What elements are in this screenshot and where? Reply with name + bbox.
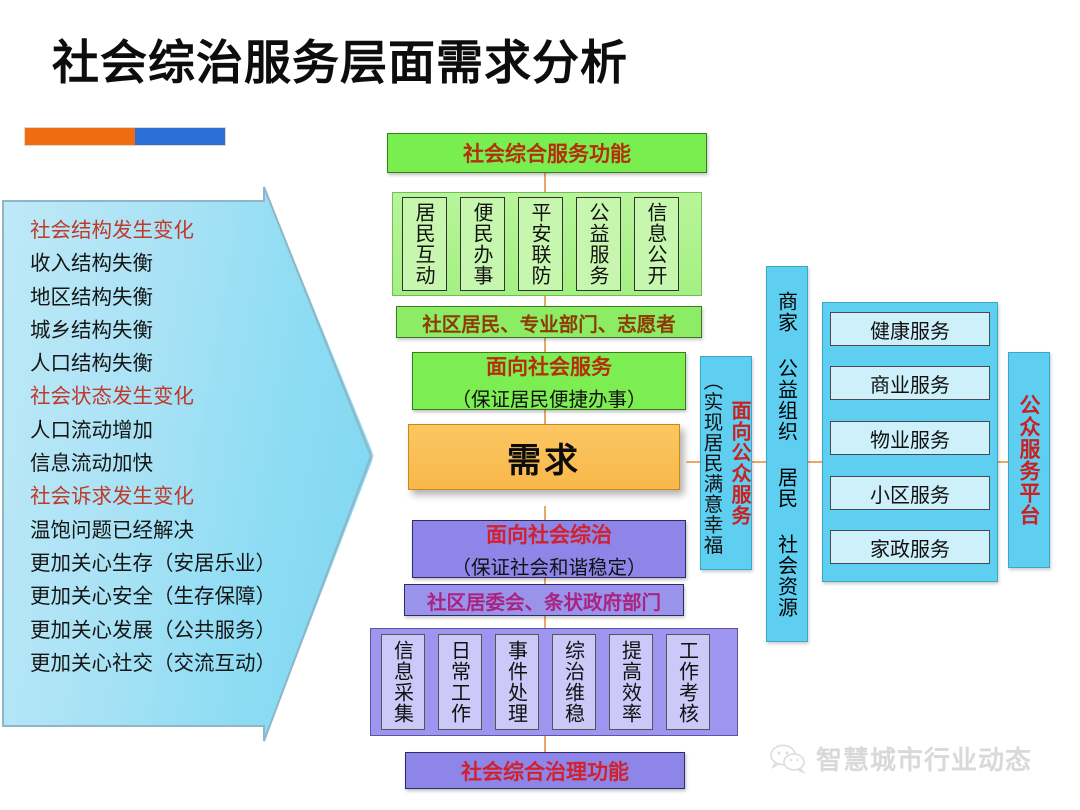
service-box-2[interactable]: 物业服务 [830,421,990,455]
service-box-0[interactable]: 健康服务 [830,312,990,346]
governance-cell-3[interactable]: 综治维稳 [552,634,596,730]
connector [544,172,546,194]
service-cell-2[interactable]: 平安联防 [518,197,563,291]
service-cell-0[interactable]: 居民互动 [402,197,447,291]
platform-label: 公众服务平台 [1014,394,1044,526]
accent-bar-blue [135,128,225,145]
social-service-orientation-block[interactable]: 面向社会服务 （保证居民便捷办事） [412,352,686,410]
slide-canvas: 社会综治服务层面需求分析 社会结构发生变化 收入结构失衡 地区结构失衡 城乡结构… [0,0,1080,810]
block-line-2: （保证社会和谐稳定） [451,551,646,580]
watermark: 智慧城市行业动态 [770,740,1032,777]
social-service-function-header[interactable]: 社会综合服务功能 [387,133,707,173]
public-service-black-text: （实现居民满意幸福 [697,371,726,556]
service-box-3[interactable]: 小区服务 [830,476,990,510]
list-item: 更加关心生存（安居乐业） [30,547,298,580]
list-item: 城乡结构失衡 [30,314,298,347]
governance-cell-2[interactable]: 事件处理 [495,634,539,730]
list-item: 更加关心安全（生存保障） [30,580,298,613]
resources-column[interactable]: 商家 公益组织 居民 社会资源 [766,266,808,642]
governance-cell-1[interactable]: 日常工作 [438,634,482,730]
governance-actors-bar[interactable]: 社区居委会、条状政府部门 [404,584,684,616]
page-title: 社会综治服务层面需求分析 [52,38,628,90]
block-line-2: （保证居民便捷办事） [451,383,646,412]
list-item: 温饱问题已经解决 [30,514,298,547]
public-service-orientation-column[interactable]: 面向公众服务 （实现居民满意幸福 [700,356,752,570]
list-item: 人口结构失衡 [30,347,298,380]
wechat-icon [770,744,806,774]
connector [544,410,546,424]
service-cell-4[interactable]: 信息公开 [634,197,679,291]
public-service-platform-column[interactable]: 公众服务平台 [1008,352,1050,568]
list-item: 信息流动加快 [30,447,298,480]
accent-bar [25,128,225,145]
public-service-red-text: 面向公众服务 [726,400,755,526]
resources-column-label: 商家 公益组织 居民 社会资源 [773,291,802,618]
governance-cell-0[interactable]: 信息采集 [381,634,425,730]
social-governance-orientation-block[interactable]: 面向社会综治 （保证社会和谐稳定） [412,520,686,578]
list-item: 收入结构失衡 [30,247,298,280]
governance-cell-5[interactable]: 工作考核 [666,634,710,730]
connector [544,735,546,753]
block-line-1: 面向社会综治 [486,519,612,549]
drivers-list: 社会结构发生变化 收入结构失衡 地区结构失衡 城乡结构失衡 人口结构失衡 社会状… [30,214,298,680]
service-box-4[interactable]: 家政服务 [830,530,990,564]
service-actors-bar[interactable]: 社区居民、专业部门、志愿者 [396,306,702,338]
need-box[interactable]: 需求 [408,424,680,490]
list-item: 地区结构失衡 [30,281,298,314]
service-cell-3[interactable]: 公益服务 [576,197,621,291]
list-item: 更加关心发展（公共服务） [30,614,298,647]
list-item: 社会状态发生变化 [30,380,298,413]
service-box-1[interactable]: 商业服务 [830,366,990,400]
block-line-1: 面向社会服务 [486,351,612,381]
watermark-label: 智慧城市行业动态 [816,740,1032,777]
list-item: 更加关心社交（交流互动） [30,647,298,680]
list-item: 社会诉求发生变化 [30,480,298,513]
list-item: 人口流动增加 [30,414,298,447]
accent-bar-orange [25,128,135,145]
social-governance-function-header[interactable]: 社会综合治理功能 [405,752,685,789]
list-item: 社会结构发生变化 [30,214,298,247]
service-cell-1[interactable]: 便民办事 [460,197,505,291]
governance-cell-4[interactable]: 提高效率 [609,634,653,730]
